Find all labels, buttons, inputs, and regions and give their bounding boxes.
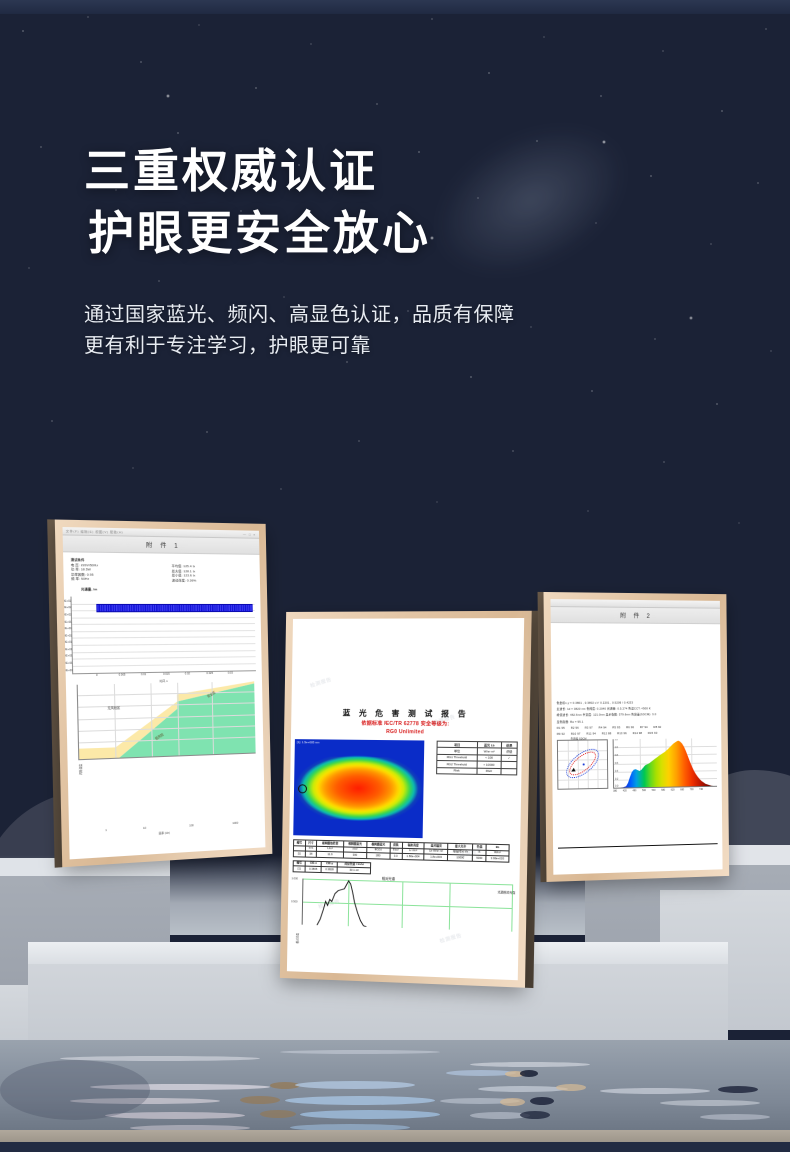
watermark: 检测报告: [439, 932, 463, 945]
headline-line-1: 三重权威认证: [84, 140, 704, 202]
certificate-page-flicker: 文件(F) 编辑(E) 视图(V) 帮助(H) — □ × 附 件 1 测试条件…: [63, 527, 266, 859]
page-rule: [558, 843, 718, 848]
flicker-ytick-8: 2.800E+01: [63, 655, 73, 658]
cri-values-row-1: R1 95 R2 96 R3 97 R4 94 R5 95 R6 96 R7 9…: [557, 724, 717, 730]
frame-reflection-gold: [500, 1098, 525, 1106]
certificate-frame-color[interactable]: 附 件 2 色坐标x,y = 0.3801 , 0.3802 u'v' 0.22…: [543, 592, 729, 882]
cri-r4: R4 94: [599, 725, 607, 729]
ellipse-chart-title: 色容差 SDCM: [571, 737, 587, 741]
sp-ytick-4: 0.4: [615, 770, 618, 773]
promo-scene: 三重权威认证 护眼更安全放心 通过国家蓝光、频闪、高显色认证，品质有保障 更有利…: [0, 0, 790, 1152]
frame-border: 附 件 2 色坐标x,y = 0.3801 , 0.3802 u'v' 0.22…: [543, 592, 729, 882]
flicker-xtick-6: 0.03: [228, 671, 233, 674]
frame-reflection-gold: [556, 1084, 586, 1091]
blue-light-heatmap: [1]: 1.5e+005 nm: [293, 739, 424, 838]
frame-border: 文件(F) 编辑(E) 视图(V) 帮助(H) — □ × 附 件 1 测试条件…: [55, 519, 273, 867]
sp-ytick-3: 0.6: [615, 762, 618, 765]
cri-r7: R7 94: [640, 725, 648, 729]
flicker-xtick-1: 0.005: [119, 673, 126, 676]
flicker-ytick-3: 9.800E+01: [63, 620, 72, 623]
rg-row2-c2: [501, 768, 517, 775]
sp-ytick-1: 1.0: [615, 746, 618, 749]
bottom-bar: [0, 1142, 790, 1152]
dt1-v2: 11.9: [317, 852, 344, 858]
document-title-flicker: 附 件 1: [63, 535, 260, 554]
chromaticity-point: [583, 764, 585, 766]
window-menu-text: 文件(F) 编辑(E) 视图(V) 帮助(H): [66, 529, 124, 534]
info-line-2: 峰值波长: 452.5nm 半宽度: 121.0nm 显示指数: 579.6nm…: [557, 712, 717, 717]
dt1-v10: 3.99e+003: [486, 856, 509, 862]
cri-r11: R11 94: [586, 732, 596, 736]
cri-r9: R9 92: [557, 732, 565, 736]
flicker-xtick-2: 0.01: [141, 673, 146, 676]
info-line-1: 主波长: λd = 3820 nm 色纯度: 0.2040 光通量: 0.5.2…: [557, 706, 717, 711]
flicker-ytick-4: 8.400E+01: [63, 627, 72, 630]
dt1-v4: 280: [366, 853, 389, 859]
spectral-power-distribution-chart: 1.2 1.0 0.8 0.6 0.4 0.2 0.0: [613, 738, 717, 789]
risk-xtick-1: 10: [143, 827, 146, 830]
sp-xtick-5: 580: [661, 789, 665, 792]
mountain-reflection: [0, 1060, 150, 1120]
sp-xtick-7: 660: [680, 789, 684, 792]
dt2-v3: 30.1 cd: [338, 867, 371, 874]
risk-xtick-3: 1000: [232, 822, 238, 825]
spd-ytick-0: 1.000: [291, 877, 298, 880]
dt2-v1: 0.3805: [305, 866, 321, 872]
flicker-ytick-0: 1.400E+02: [63, 600, 72, 603]
sp-xtick-9: 740: [699, 788, 703, 791]
spd-legend: 光源相对光强: [497, 890, 515, 895]
risk-zone-label-none: 无风险区: [107, 706, 120, 710]
sp-ytick-6: 0.0: [615, 785, 618, 788]
headline-line-2: 护眼更安全放心: [88, 202, 704, 264]
param-right-3: 波动深度: 0.36%: [172, 578, 254, 583]
flicker-ytick-10: 0.000E+00: [63, 669, 73, 672]
info-line-3: 显色指数: Ra = 95.1: [557, 718, 717, 723]
risk-xtick-2: 100: [189, 824, 193, 827]
flicker-risk-zone-chart: 无风险区 低风险 安全区 100% 10% 1% 0.1%: [77, 681, 256, 760]
subheadline-line-1: 通过国家蓝光、频闪、高显色认证，品质有保障: [84, 300, 704, 331]
sp-xtick-4: 540: [652, 789, 656, 792]
spd-yaxis-label: 相对光强: [295, 933, 299, 944]
window-controls: — □ ×: [243, 532, 256, 536]
cri-r3: R3 97: [585, 725, 593, 729]
rg-row2-c1: RG0: [477, 768, 501, 775]
flicker-xtick-3: 0.015: [163, 672, 170, 675]
measurement-table-primary: 编号 尺寸 视网膜热危害 视网膜蓝光 视网膜蓝光 皮肤 辐射亮度 蓝光辐亮 最大…: [293, 839, 510, 862]
cri-r5: R5 95: [612, 725, 620, 729]
sp-xtick-1: 420: [623, 790, 627, 793]
sp-ytick-2: 0.8: [615, 754, 618, 757]
headline-block: 三重权威认证 护眼更安全放心 通过国家蓝光、频闪、高显色认证，品质有保障 更有利…: [84, 140, 704, 362]
risk-yaxis-label: 闪烁深度: [78, 764, 83, 775]
dt2-v2: 0.3828: [321, 867, 337, 873]
heatmap-hot-band: [294, 756, 424, 820]
chromaticity-ellipse-chart: 色容差 SDCM: [557, 740, 608, 790]
spectrum-xaxis-ticks: 380 420 460 500 540 580 620 660 700 740: [613, 788, 717, 793]
dt1-v9: 5000: [473, 855, 486, 861]
cri-r13: R13 96: [617, 731, 627, 735]
risk-xtick-0: 1: [105, 829, 107, 832]
table-row: Risk RG0: [437, 767, 517, 775]
dt2-v0: [1]: [293, 866, 305, 872]
dt1-v7: 1.8e+003: [424, 854, 448, 860]
dt1-v8: 10000: [448, 855, 473, 861]
risk-group-table: 项目 蓝光 Lb 结果 单位 W/sr·m² 评级 RG1 Threshold …: [436, 741, 518, 776]
flicker-ytick-7: 4.200E+01: [63, 648, 73, 651]
certificate-frame-blue-light[interactable]: 检测报告 检测报告 检测报告 检测报告 检测报告 检测报告 蓝 光 危 害 测 …: [280, 611, 532, 988]
document-title-color: 附 件 2: [551, 607, 721, 624]
flicker-ytick-9: 1.400E+01: [63, 662, 73, 665]
flicker-ytick-1: 1.260E+02: [63, 606, 72, 609]
cri-r6: R6 96: [626, 725, 634, 729]
relative-spectrum-chart: 相对光谱 1.000 0.500 光源相对光强: [302, 879, 514, 932]
cri-r12: R12 88: [602, 731, 612, 735]
dt1-v6: 1.86e+004: [402, 854, 425, 860]
sp-ytick-5: 0.2: [615, 778, 618, 781]
cri-values-row-2: R9 92 R10 97 R11 94 R12 88 R13 96 R14 98…: [557, 730, 717, 736]
spd-ytick-1: 0.500: [291, 900, 298, 903]
sp-xtick-3: 500: [642, 789, 646, 792]
sp-xtick-6: 620: [671, 789, 675, 792]
info-line-0: 色坐标x,y = 0.3801 , 0.3802 u'v' 0.2201 , 0…: [556, 700, 716, 705]
flicker-waveform-chart: 1.400E+02 1.260E+02 1.120E+02 9.800E+01 …: [70, 597, 255, 675]
cri-r1: R1 95: [557, 726, 565, 730]
cri-r2: R2 96: [571, 726, 579, 730]
rg-row2-c0: Risk: [437, 767, 477, 774]
dt1-v5: 3.3: [390, 853, 402, 859]
certificate-page-blue-light: 检测报告 检测报告 检测报告 检测报告 检测报告 检测报告 蓝 光 危 害 测 …: [287, 618, 524, 980]
heatmap-scale-label: [1]: 1.5e+005 nm: [297, 740, 320, 744]
blue-light-report-title: 蓝 光 危 害 测 试 报 告: [291, 707, 522, 720]
dt1-v3: 300: [343, 852, 366, 858]
measurement-table-chromaticity: 编号 CIE-x CIE-y 对应色温 t lm/sr [1] 0.3805 0…: [293, 860, 372, 874]
sp-xtick-0: 380: [613, 790, 617, 793]
dt1-v0: [1]: [293, 851, 305, 857]
flicker-chart-title: 光通量, lm: [81, 588, 260, 593]
frame-reflection: [285, 1096, 435, 1105]
flicker-ytick-6: 5.600E+01: [63, 641, 73, 644]
frame-reflection: [300, 1110, 440, 1119]
water-reflection: [0, 1040, 790, 1152]
flicker-ytick-5: 7.000E+01: [63, 634, 73, 637]
frame-border: 检测报告 检测报告 检测报告 检测报告 检测报告 检测报告 蓝 光 危 害 测 …: [280, 611, 532, 988]
cri-r14: R14 98: [633, 731, 643, 735]
risk-xaxis-label: 频率 (Hz): [159, 831, 170, 836]
color-charts-row: 色容差 SDCM: [557, 738, 717, 790]
table-row: [1] 0.3805 0.3828 30.1 cd: [293, 866, 370, 874]
flicker-waveform-trace: [96, 603, 253, 611]
flicker-xtick-0: 0: [96, 674, 98, 677]
param-left-3: 频 率: 50Hz: [71, 577, 157, 582]
cri-r15: R15 93: [648, 731, 658, 735]
cri-r10: R10 97: [571, 732, 581, 736]
certificate-frame-flicker[interactable]: 文件(F) 编辑(E) 视图(V) 帮助(H) — □ × 附 件 1 测试条件…: [55, 519, 273, 867]
flicker-ytick-2: 1.120E+02: [63, 613, 72, 616]
subheadline-line-2: 更有利于专注学习，护眼更可靠: [84, 331, 704, 362]
risk-group-line: RG0 Unlimited: [291, 728, 522, 738]
spd-curve: [303, 879, 514, 932]
flicker-xtick-5: 0.025: [206, 672, 213, 675]
dt1-v1: 38: [305, 851, 317, 857]
sp-xtick-8: 700: [690, 788, 694, 791]
sp-xtick-2: 460: [632, 789, 636, 792]
flicker-xtick-4: 0.02: [185, 672, 190, 675]
cri-r8: R8 92: [653, 725, 661, 729]
frame-reflection: [295, 1081, 415, 1089]
sp-ytick-0: 1.2: [615, 738, 618, 741]
certificate-page-color: 附 件 2 色坐标x,y = 0.3801 , 0.3802 u'v' 0.22…: [550, 599, 722, 875]
